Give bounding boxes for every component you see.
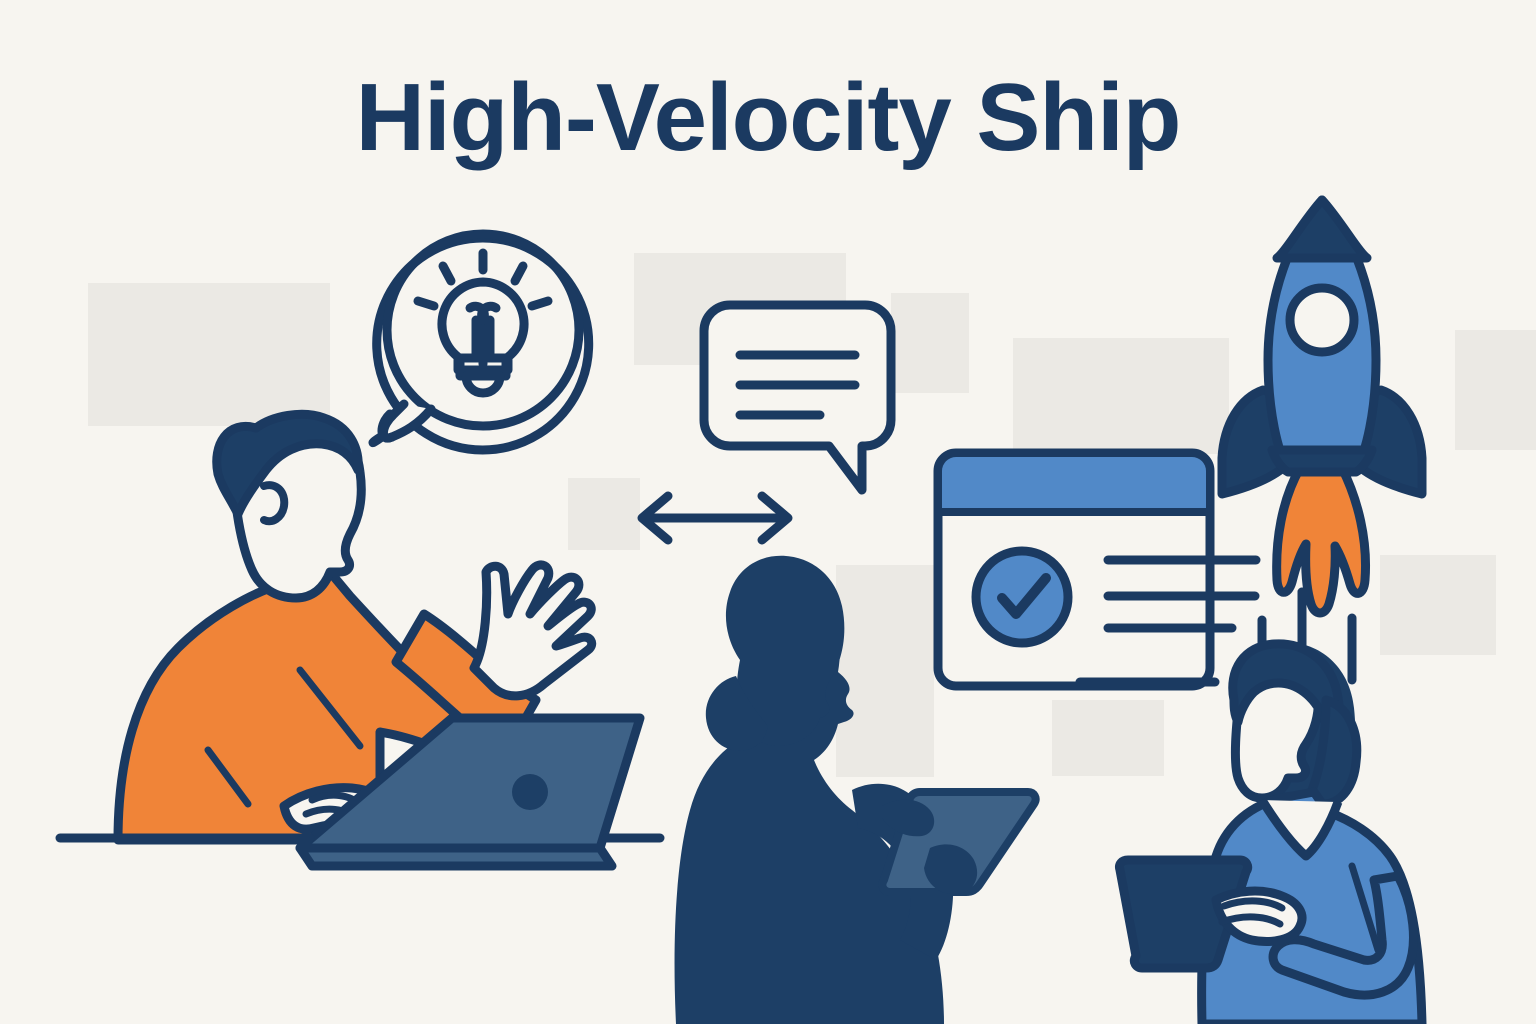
rocket-base	[1272, 450, 1372, 472]
block-right-edge	[1455, 330, 1536, 450]
block-far-right	[1380, 555, 1496, 655]
illustration-canvas: High-Velocity Ship	[0, 0, 1536, 1024]
block-mid-left	[568, 478, 640, 550]
rocket-flame	[1277, 468, 1366, 613]
block-low-right	[1052, 700, 1164, 776]
window-card-icon	[938, 453, 1256, 686]
laptop-base	[300, 848, 612, 866]
check-circle-icon	[976, 551, 1068, 643]
block-right-tall	[1013, 338, 1229, 454]
block-far-left	[88, 283, 330, 426]
laptop-logo-icon	[512, 774, 548, 810]
illustration-artwork	[0, 0, 1536, 1024]
rocket-porthole	[1290, 288, 1354, 352]
card-title-bar	[942, 457, 1206, 512]
block-mid-center	[836, 565, 934, 777]
block-upper-right	[891, 293, 969, 393]
